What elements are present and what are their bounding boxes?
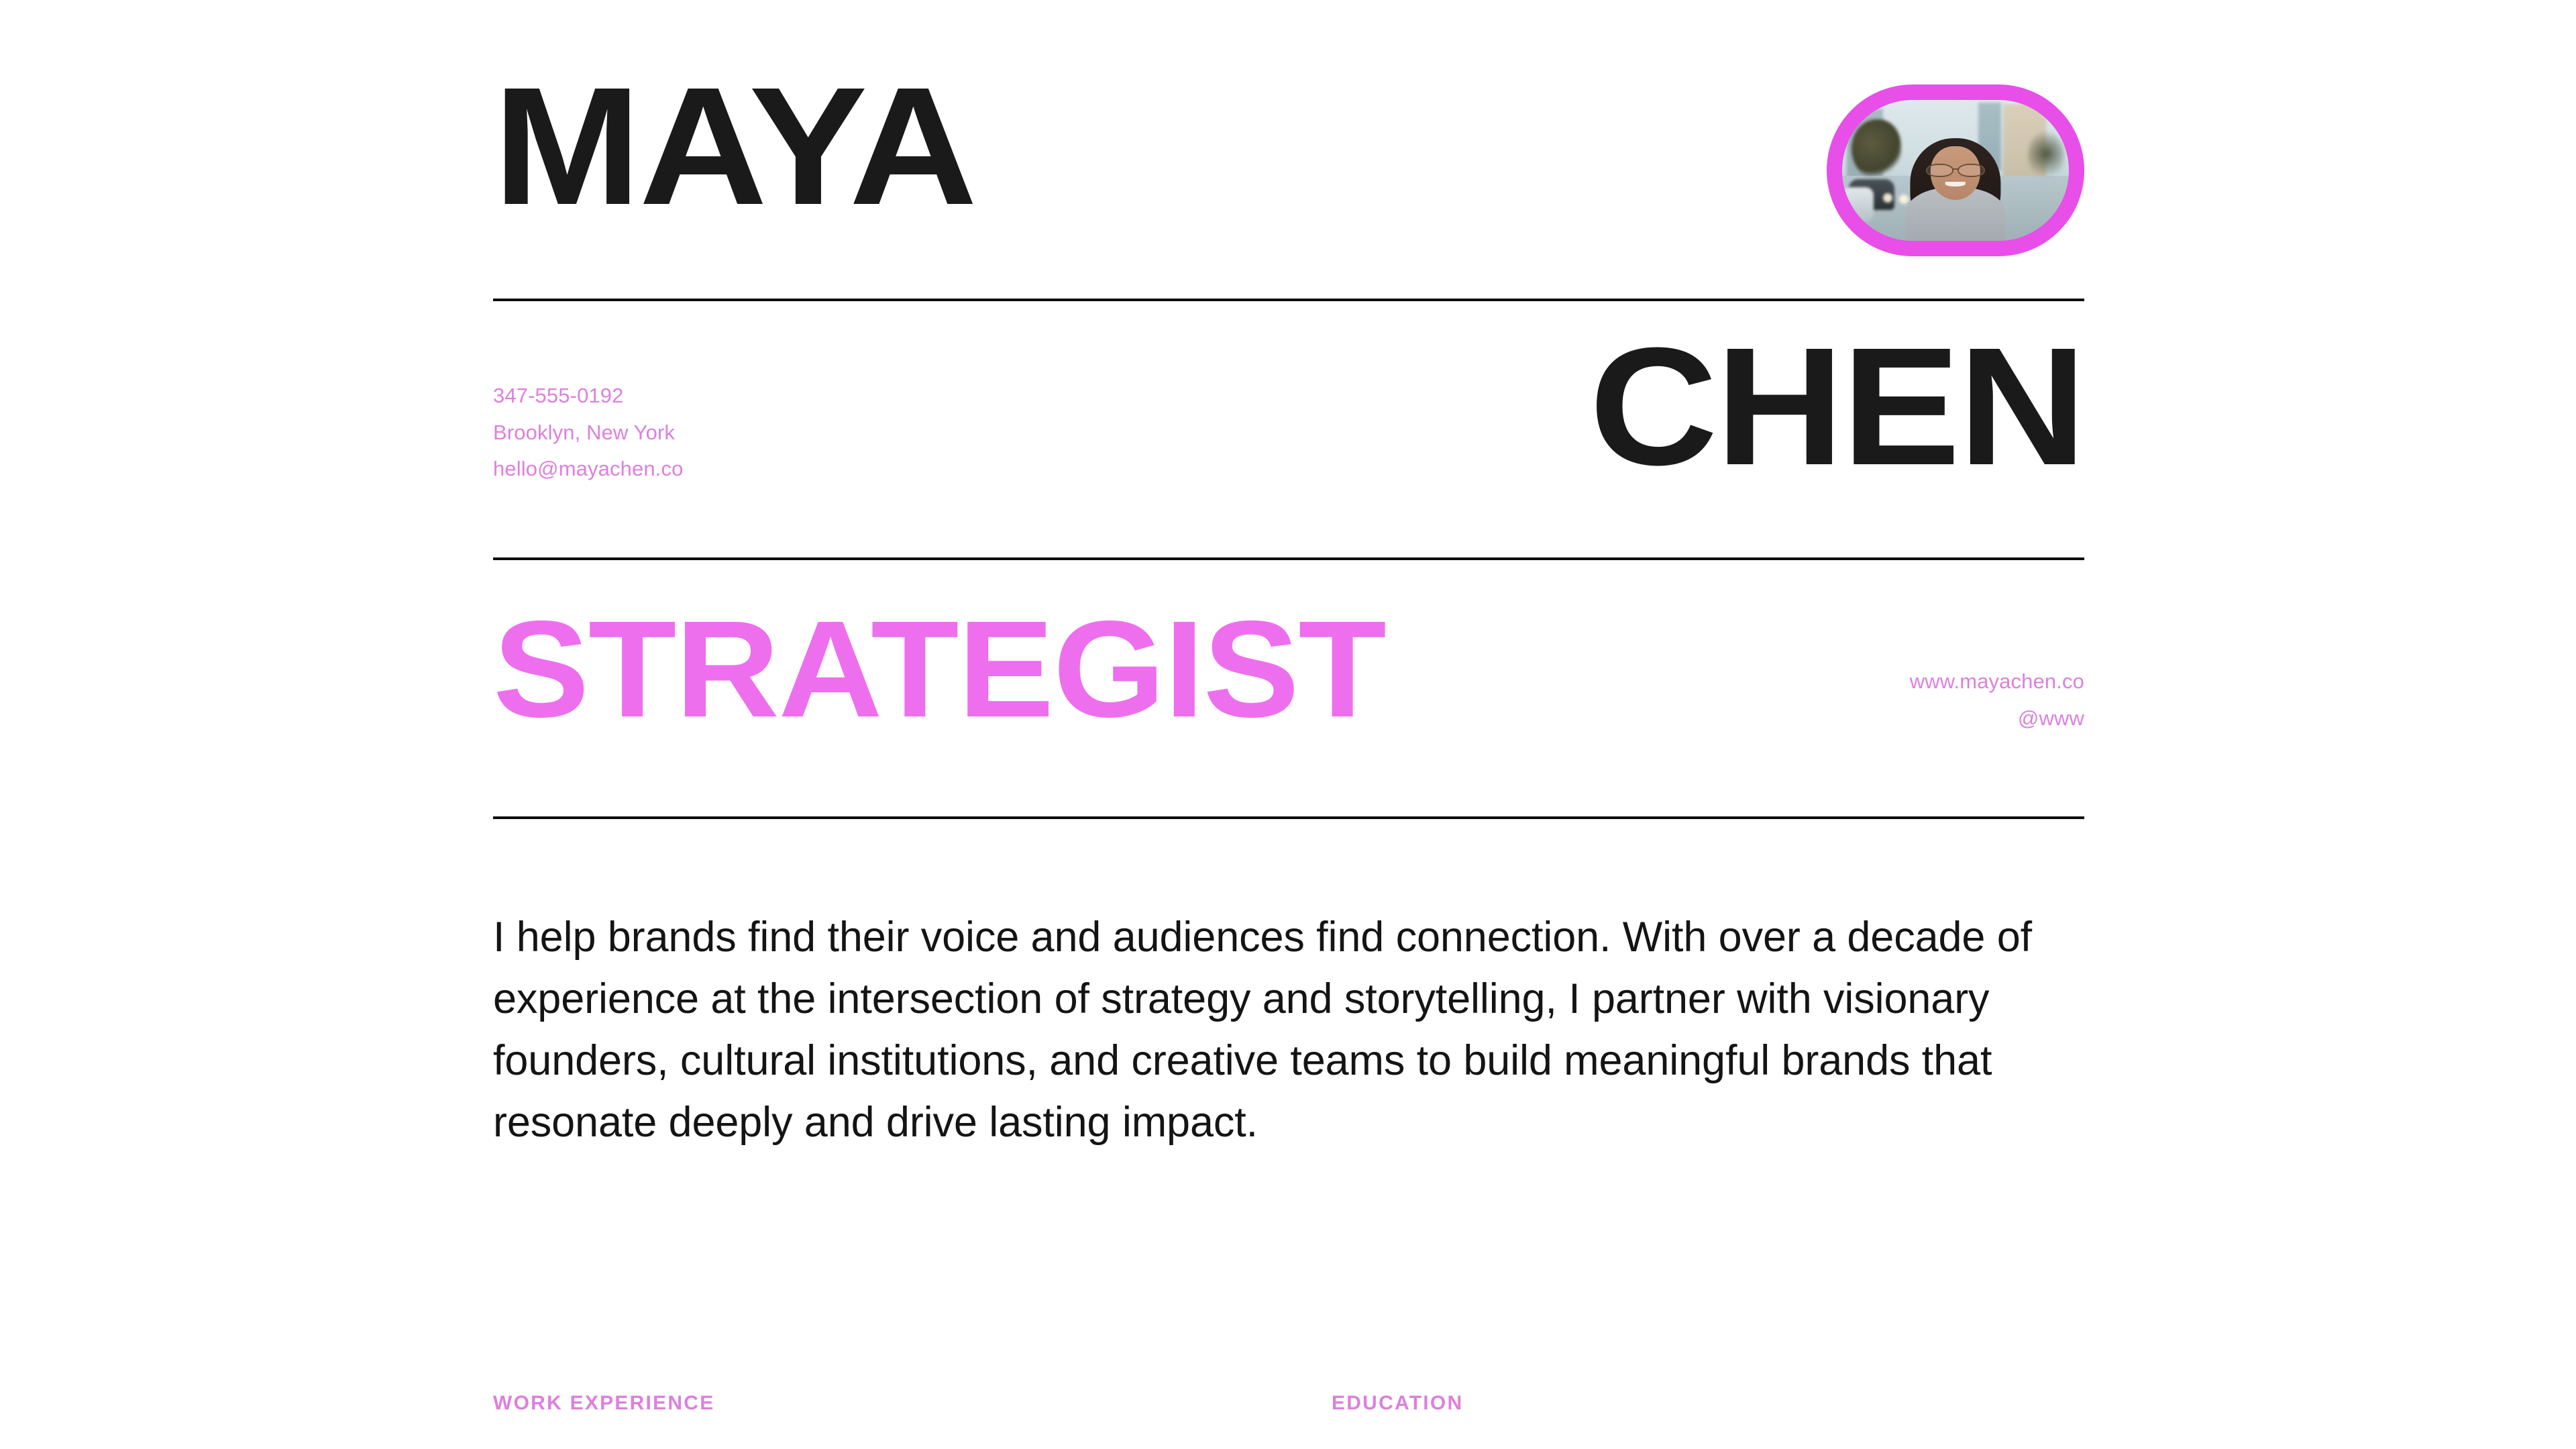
photo-tree-right	[2028, 131, 2064, 182]
contact-location: Brooklyn, New York	[493, 415, 683, 451]
link-social-handle[interactable]: @www	[1910, 700, 2084, 737]
resume-page: MAYA 347-	[0, 0, 2576, 1449]
links-block: www.mayachen.co @www	[1910, 663, 2084, 737]
first-name-heading: MAYA	[493, 79, 975, 213]
divider-rule-3	[493, 816, 2084, 819]
divider-rule-2	[493, 557, 2084, 560]
link-website[interactable]: www.mayachen.co	[1910, 663, 2084, 700]
photo-headlight-2	[1899, 195, 1909, 204]
glasses-lens-right	[1957, 164, 1985, 178]
glasses-bridge	[1952, 168, 1960, 170]
glasses-lens-left	[1926, 164, 1953, 178]
glasses-icon	[1926, 164, 1985, 175]
photo-tree-left	[1851, 119, 1901, 178]
avatar	[1827, 85, 2084, 256]
role-heading: STRATEGIST	[493, 609, 1385, 730]
photo-car-light	[1842, 187, 1874, 221]
last-name-heading: CHEN	[1589, 339, 2084, 474]
section-heading-education: EDUCATION	[1332, 1392, 1463, 1415]
section-heading-work-experience: WORK EXPERIENCE	[493, 1392, 714, 1415]
summary-text: I help brands find their voice and audie…	[493, 907, 2090, 1154]
divider-rule-1	[493, 299, 2084, 301]
contact-phone[interactable]: 347-555-0192	[493, 378, 683, 415]
avatar-photo	[1842, 100, 2069, 241]
photo-headlight-1	[1883, 193, 1892, 203]
contact-email[interactable]: hello@mayachen.co	[493, 451, 683, 488]
summary-block: I help brands find their voice and audie…	[493, 907, 2090, 1154]
contact-block: 347-555-0192 Brooklyn, New York hello@ma…	[493, 378, 683, 488]
